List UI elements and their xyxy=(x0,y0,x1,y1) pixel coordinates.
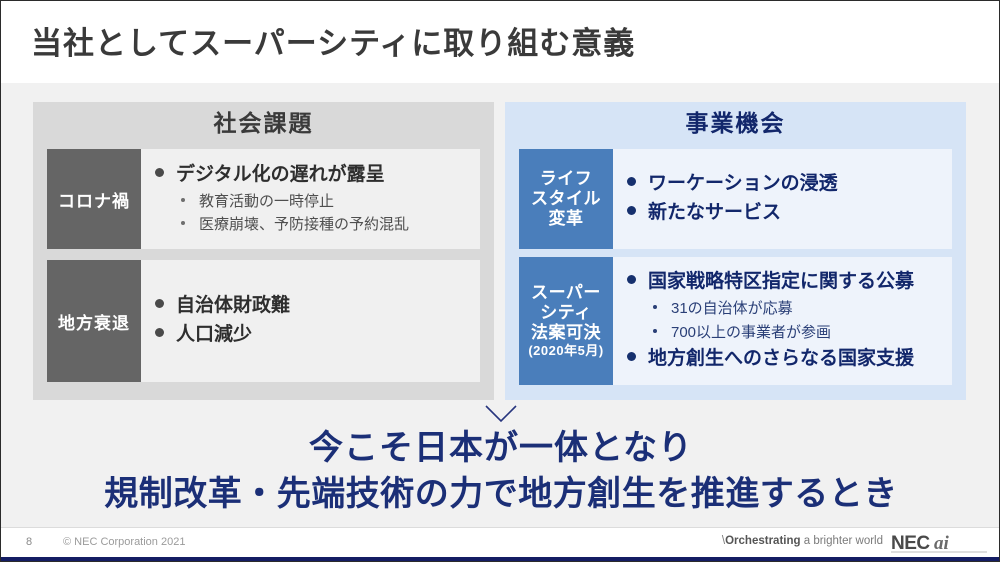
sub-bullet-text: 700以上の事業者が参画 xyxy=(671,322,831,344)
sub-bullet-dot-icon xyxy=(181,198,185,202)
panel-right-header: 事業機会 xyxy=(505,102,966,144)
right-row-supercity-law-label: スーパー シティ 法案可決 (2020年5月) xyxy=(519,257,613,385)
svg-text:NEC: NEC xyxy=(891,533,930,554)
conclusion-line-2: 規制改革・先端技術の力で地方創生を推進するとき xyxy=(1,472,1000,518)
bullet-item: 自治体財政難 xyxy=(155,293,470,320)
chevron-down-icon xyxy=(485,405,517,423)
panel-business-opportunities: 事業機会 ライフ スタイル 変革 ワーケーションの浸透 xyxy=(505,102,966,400)
label-line: シティ xyxy=(540,303,591,322)
conclusion-text: 今こそ日本が一体となり 規制改革・先端技術の力で地方創生を推進するとき xyxy=(1,426,1000,518)
left-row-decline: 地方衰退 自治体財政難 人口減少 xyxy=(47,260,480,382)
bullet-item: 人口減少 xyxy=(155,322,470,349)
bullet-dot-icon xyxy=(627,177,636,186)
bullet-text: 人口減少 xyxy=(176,322,252,349)
bullet-dot-icon xyxy=(627,352,636,361)
bullet-text: 国家戦略特区指定に関する公募 xyxy=(648,269,914,296)
sub-bullet-item: 教育活動の一時停止 xyxy=(181,191,470,213)
conclusion-line-1: 今こそ日本が一体となり xyxy=(1,426,1000,472)
panel-left-header: 社会課題 xyxy=(33,102,494,144)
bullet-dot-icon xyxy=(155,168,164,177)
right-row-lifestyle: ライフ スタイル 変革 ワーケーションの浸透 新たなサービス xyxy=(519,149,952,249)
sub-bullet-dot-icon xyxy=(181,221,185,225)
left-row-corona-content: デジタル化の遅れが露呈 教育活動の一時停止 医療崩壊、予防接種の予約混乱 xyxy=(141,149,480,249)
left-row-decline-content: 自治体財政難 人口減少 xyxy=(141,260,480,382)
sub-bullet-dot-icon xyxy=(653,329,657,333)
bullet-text: デジタル化の遅れが露呈 xyxy=(176,162,385,189)
right-row-lifestyle-content: ワーケーションの浸透 新たなサービス xyxy=(613,149,952,249)
sub-bullet-dot-icon xyxy=(653,305,657,309)
bullet-item: 新たなサービス xyxy=(627,200,942,227)
slide-footer: 8 © NEC Corporation 2021 \Orchestrating … xyxy=(1,527,1000,558)
sub-bullet-item: 医療崩壊、予防接種の予約混乱 xyxy=(181,214,470,236)
footer-page-number: 8 xyxy=(26,536,32,548)
label-line: 変革 xyxy=(549,209,584,228)
footer-copyright: © NEC Corporation 2021 xyxy=(63,536,185,548)
footer-tagline: \Orchestrating a brighter world xyxy=(722,535,883,547)
label-line: ライフ xyxy=(540,169,593,188)
label-date-note: (2020年5月) xyxy=(528,343,603,358)
bullet-text: ワーケーションの浸透 xyxy=(648,171,838,198)
label-line: スタイル xyxy=(531,189,601,208)
bullet-dot-icon xyxy=(155,299,164,308)
svg-text:ai: ai xyxy=(934,533,950,554)
right-row-lifestyle-label: ライフ スタイル 変革 xyxy=(519,149,613,249)
sub-bullet-text: 教育活動の一時停止 xyxy=(199,191,334,213)
title-bar: 当社としてスーパーシティに取り組む意義 xyxy=(1,1,1000,83)
nec-logo: NEC ai xyxy=(891,532,987,554)
bullet-text: 地方創生へのさらなる国家支援 xyxy=(648,346,914,373)
panel-social-issues: 社会課題 コロナ禍 デジタル化の遅れが露呈 教育活動の一時停止 医療崩壊、予防接… xyxy=(33,102,494,400)
page-title: 当社としてスーパーシティに取り組む意義 xyxy=(31,18,635,63)
right-row-supercity-law-content: 国家戦略特区指定に関する公募 31の自治体が応募 700以上の事業者が参画 地方… xyxy=(613,257,952,385)
slide-body: 社会課題 コロナ禍 デジタル化の遅れが露呈 教育活動の一時停止 医療崩壊、予防接… xyxy=(1,83,1000,527)
sub-bullet-text: 31の自治体が応募 xyxy=(671,298,793,320)
sub-bullet-text: 医療崩壊、予防接種の予約混乱 xyxy=(199,214,409,236)
sub-bullet-item: 700以上の事業者が参画 xyxy=(653,322,942,344)
bullet-item: 国家戦略特区指定に関する公募 xyxy=(627,269,942,296)
bullet-item: 地方創生へのさらなる国家支援 xyxy=(627,346,942,373)
bullet-dot-icon xyxy=(155,328,164,337)
bullet-text: 新たなサービス xyxy=(648,200,781,227)
bullet-dot-icon xyxy=(627,275,636,284)
bottom-accent-bar xyxy=(1,557,1000,562)
bullet-dot-icon xyxy=(627,206,636,215)
left-row-decline-label: 地方衰退 xyxy=(47,260,141,382)
right-row-supercity-law: スーパー シティ 法案可決 (2020年5月) 国家戦略特区指定に関する公募 3… xyxy=(519,257,952,385)
left-row-corona-label: コロナ禍 xyxy=(47,149,141,249)
tagline-bold: Orchestrating xyxy=(725,535,800,547)
bullet-text: 自治体財政難 xyxy=(176,293,290,320)
label-line: スーパー xyxy=(531,283,601,302)
tagline-rest: a brighter world xyxy=(804,535,883,547)
bullet-item: ワーケーションの浸透 xyxy=(627,171,942,198)
left-row-corona: コロナ禍 デジタル化の遅れが露呈 教育活動の一時停止 医療崩壊、予防接種の予約混… xyxy=(47,149,480,249)
slide-canvas: 当社としてスーパーシティに取り組む意義 社会課題 コロナ禍 デジタル化の遅れが露… xyxy=(0,0,1000,562)
sub-bullet-item: 31の自治体が応募 xyxy=(653,298,942,320)
bullet-item: デジタル化の遅れが露呈 xyxy=(155,162,470,189)
label-line: 法案可決 xyxy=(531,323,601,342)
